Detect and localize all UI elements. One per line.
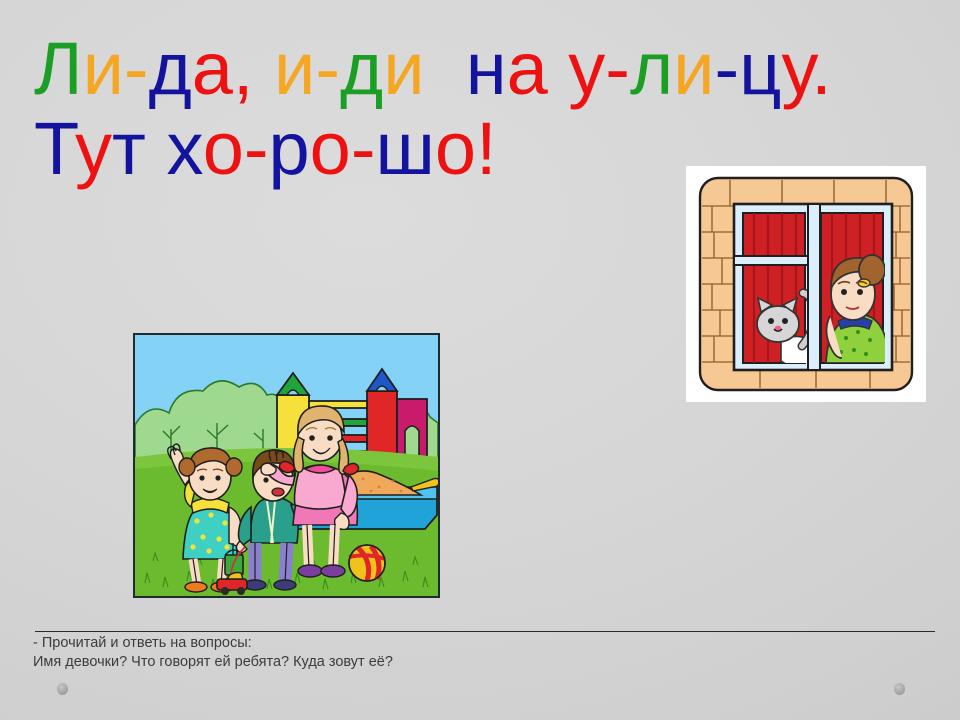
title-line-1-char-22: . <box>811 27 832 110</box>
title-line-2-char-2: т <box>112 107 146 190</box>
title-line-1-char-9: д <box>340 27 383 110</box>
footer-line-1: - Прочитай и ответь на вопросы: <box>33 634 913 653</box>
title-line-1-char-10: и <box>383 27 424 110</box>
title-line-1-char-5: , <box>233 27 254 110</box>
title-line-1-char-0: Л <box>34 27 83 110</box>
title-line-2-char-1: у <box>75 107 112 190</box>
title-line-1-char-13: а <box>507 27 548 110</box>
window-illustration <box>686 166 926 402</box>
footer-line-2: Имя девочки? Что говорят ей ребята? Куда… <box>33 653 913 672</box>
title-line-1-char-17: л <box>630 27 673 110</box>
title-line-1-char-2: - <box>124 27 149 110</box>
title-line-1-char-6 <box>253 27 274 110</box>
footer-divider <box>35 631 935 632</box>
title-line-1-char-7: и <box>274 27 315 110</box>
title-line-2-char-5: о <box>203 107 244 190</box>
footer-text: - Прочитай и ответь на вопросы: Имя дево… <box>33 634 913 672</box>
title-line-1-char-19: - <box>714 27 739 110</box>
playground-illustration <box>135 335 438 596</box>
title-line-2-char-3 <box>146 107 167 190</box>
title-line-2-char-7: р <box>269 107 310 190</box>
title-line-2-char-4: х <box>167 107 203 190</box>
title-line-1-char-14 <box>548 27 569 110</box>
slide-canvas: Ли-да, и-ди на у-ли-цу. Тут хо-ро-шо! <box>0 0 960 720</box>
title-line-1-char-18: и <box>673 27 714 110</box>
title-line-1-char-8: - <box>315 27 340 110</box>
title-line-1-char-12: н <box>466 27 507 110</box>
title-line-2-char-6: - <box>244 107 269 190</box>
playground-picture <box>133 333 440 598</box>
decorative-dot-left <box>57 683 68 695</box>
title-line-2-char-11: о <box>435 107 476 190</box>
title-line-2-char-12: ! <box>476 107 497 190</box>
title-line-1-char-20: ц <box>739 27 781 110</box>
title-line-2-char-0: Т <box>34 107 75 190</box>
title-line-1-char-4: а <box>192 27 233 110</box>
title-line-2-char-8: о <box>310 107 351 190</box>
title-line-1-char-3: д <box>149 27 192 110</box>
title-line-1-char-21: у <box>782 27 812 110</box>
title-line-1-char-11 <box>425 27 466 110</box>
title-line-1-char-15: у <box>568 27 605 110</box>
title-line-2-char-10: ш <box>375 107 434 190</box>
window-picture <box>686 166 926 402</box>
title-line-1-char-16: - <box>605 27 630 110</box>
title-line-1-char-1: и <box>83 27 124 110</box>
title-line-2-char-9: - <box>351 107 376 190</box>
decorative-dot-right <box>894 683 905 695</box>
title-block: Ли-да, и-ди на у-ли-цу. Тут хо-ро-шо! <box>34 32 939 186</box>
title-line-1: Ли-да, и-ди на у-ли-цу. <box>34 32 939 106</box>
